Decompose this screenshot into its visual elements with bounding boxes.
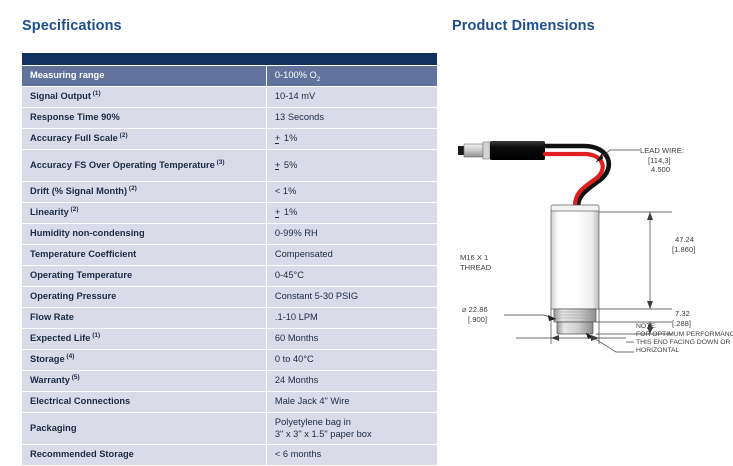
spec-value-cell: Polyetylene bag in3" x 3" x 1.5" paper b… xyxy=(266,413,437,444)
table-header-row xyxy=(22,53,437,65)
table-row: Flow Rate.1-10 LPM xyxy=(22,308,437,328)
spec-value-cell: < 1% xyxy=(266,182,437,202)
spec-label-cell: Packaging xyxy=(22,413,266,444)
spec-value-cell: + 1% xyxy=(266,129,437,149)
spec-value-cell: 24 Months xyxy=(266,371,437,391)
spec-value-cell: Male Jack 4" Wire xyxy=(266,392,437,412)
footnote-marker: (1) xyxy=(90,332,100,339)
note-line3: THIS END FACING DOWN OR xyxy=(636,339,730,346)
footnote-marker: (5) xyxy=(70,374,80,381)
spec-value-cell: 0-100% O2 xyxy=(266,66,437,86)
table-row: Temperature CoefficientCompensated xyxy=(22,245,437,265)
spec-value-cell: 0-99% RH xyxy=(266,224,437,244)
specifications-table: Measuring range0-100% O2Signal Output (1… xyxy=(22,52,437,466)
base-height-metric: [.288] xyxy=(672,319,691,328)
lead-wire-callout-name: LEAD WIRE: xyxy=(640,146,684,155)
spec-label-cell: Operating Pressure xyxy=(22,287,266,307)
spec-label-cell: Storage (4) xyxy=(22,350,266,370)
table-row: Recommended Storage< 6 months xyxy=(22,445,437,465)
table-row: Accuracy Full Scale (2)+ 1% xyxy=(22,129,437,149)
footnote-marker: (4) xyxy=(65,353,75,360)
table-row: Humidity non-condensing0-99% RH xyxy=(22,224,437,244)
sensor-body-graphic xyxy=(551,205,599,334)
note-line2: FOR OPTIMUM PERFORMANCE xyxy=(636,331,733,338)
note-line1: NOTE: xyxy=(636,323,657,330)
footnote-marker: (2) xyxy=(69,206,79,213)
table-row: Warranty (5)24 Months xyxy=(22,371,437,391)
spec-value-cell: 0-45°C xyxy=(266,266,437,286)
spec-label-cell: Signal Output (1) xyxy=(22,87,266,107)
spec-label-cell: Flow Rate xyxy=(22,308,266,328)
spec-value-cell: 13 Seconds xyxy=(266,108,437,128)
table-row: Storage (4)0 to 40°C xyxy=(22,350,437,370)
connector-jack-graphic xyxy=(458,141,545,160)
base-height-imperial: 7.32 xyxy=(675,309,690,318)
footnote-marker: (2) xyxy=(127,185,137,192)
spec-label-cell: Humidity non-condensing xyxy=(22,224,266,244)
thread-callout-line2: THREAD xyxy=(460,263,492,272)
spec-label-cell: Response Time 90% xyxy=(22,108,266,128)
specifications-heading: Specifications xyxy=(22,18,122,34)
diameter-metric: [.900] xyxy=(468,315,487,324)
footnote-marker: (2) xyxy=(118,132,128,139)
table-row: Accuracy FS Over Operating Temperature (… xyxy=(22,150,437,181)
footnote-marker: (1) xyxy=(91,90,101,97)
spec-value-cell: 0 to 40°C xyxy=(266,350,437,370)
table-row: PackagingPolyetylene bag in3" x 3" x 1.5… xyxy=(22,413,437,444)
table-row: Linearity (2)+ 1% xyxy=(22,203,437,223)
body-length-metric: [1.860] xyxy=(672,245,695,254)
footnote-marker: (3) xyxy=(215,159,225,166)
spec-value-cell: + 5% xyxy=(266,150,437,181)
subscript: 2 xyxy=(317,76,321,83)
spec-value-cell: Compensated xyxy=(266,245,437,265)
spec-label-cell: Operating Temperature xyxy=(22,266,266,286)
table-header-label-cell xyxy=(22,53,266,65)
note-line4: HORIZONTAL xyxy=(636,347,680,354)
datasheet-page: Specifications Measuring range0-100% O2S… xyxy=(0,0,733,462)
table-row: Drift (% Signal Month) (2)< 1% xyxy=(22,182,437,202)
spec-label-cell: Accuracy Full Scale (2) xyxy=(22,129,266,149)
table-row: Signal Output (1)10-14 mV xyxy=(22,87,437,107)
plus-minus-icon: + xyxy=(275,133,281,144)
product-dimensions-drawing: LEAD WIRE: [114,3] 4.500 M16 X 1 THREAD … xyxy=(444,130,733,360)
spec-value-cell: < 6 months xyxy=(266,445,437,465)
table-row: Electrical ConnectionsMale Jack 4" Wire xyxy=(22,392,437,412)
spec-value-cell: Constant 5-30 PSIG xyxy=(266,287,437,307)
spec-label-cell: Linearity (2) xyxy=(22,203,266,223)
table-row: Measuring range0-100% O2 xyxy=(22,66,437,86)
spec-label-cell: Expected Life (1) xyxy=(22,329,266,349)
plus-minus-icon: + xyxy=(275,160,281,171)
spec-value-cell: 10-14 mV xyxy=(266,87,437,107)
spec-label-cell: Recommended Storage xyxy=(22,445,266,465)
table-row: Operating PressureConstant 5-30 PSIG xyxy=(22,287,437,307)
table-row: Response Time 90%13 Seconds xyxy=(22,108,437,128)
spec-label-cell: Electrical Connections xyxy=(22,392,266,412)
table-header-value-cell xyxy=(266,53,437,65)
spec-value-cell: + 1% xyxy=(266,203,437,223)
diameter-imperial: ⌀ 22.86 xyxy=(462,305,488,314)
spec-value-cell: 60 Months xyxy=(266,329,437,349)
body-length-imperial: 47.24 xyxy=(675,235,694,244)
thread-callout-line1: M16 X 1 xyxy=(460,253,488,262)
lead-wire-graphic xyxy=(545,146,609,206)
spec-label-cell: Measuring range xyxy=(22,66,266,86)
spec-label-cell: Drift (% Signal Month) (2) xyxy=(22,182,266,202)
spec-label-cell: Warranty (5) xyxy=(22,371,266,391)
spec-label-cell: Temperature Coefficient xyxy=(22,245,266,265)
table-row: Expected Life (1)60 Months xyxy=(22,329,437,349)
lead-wire-callout-metric: [114,3] xyxy=(648,156,671,165)
plus-minus-icon: + xyxy=(275,207,281,218)
table-row: Operating Temperature0-45°C xyxy=(22,266,437,286)
spec-value-cell: .1-10 LPM xyxy=(266,308,437,328)
lead-wire-callout-imperial: 4.500 xyxy=(651,165,670,174)
spec-label-cell: Accuracy FS Over Operating Temperature (… xyxy=(22,150,266,181)
product-dimensions-heading: Product Dimensions xyxy=(452,18,595,34)
